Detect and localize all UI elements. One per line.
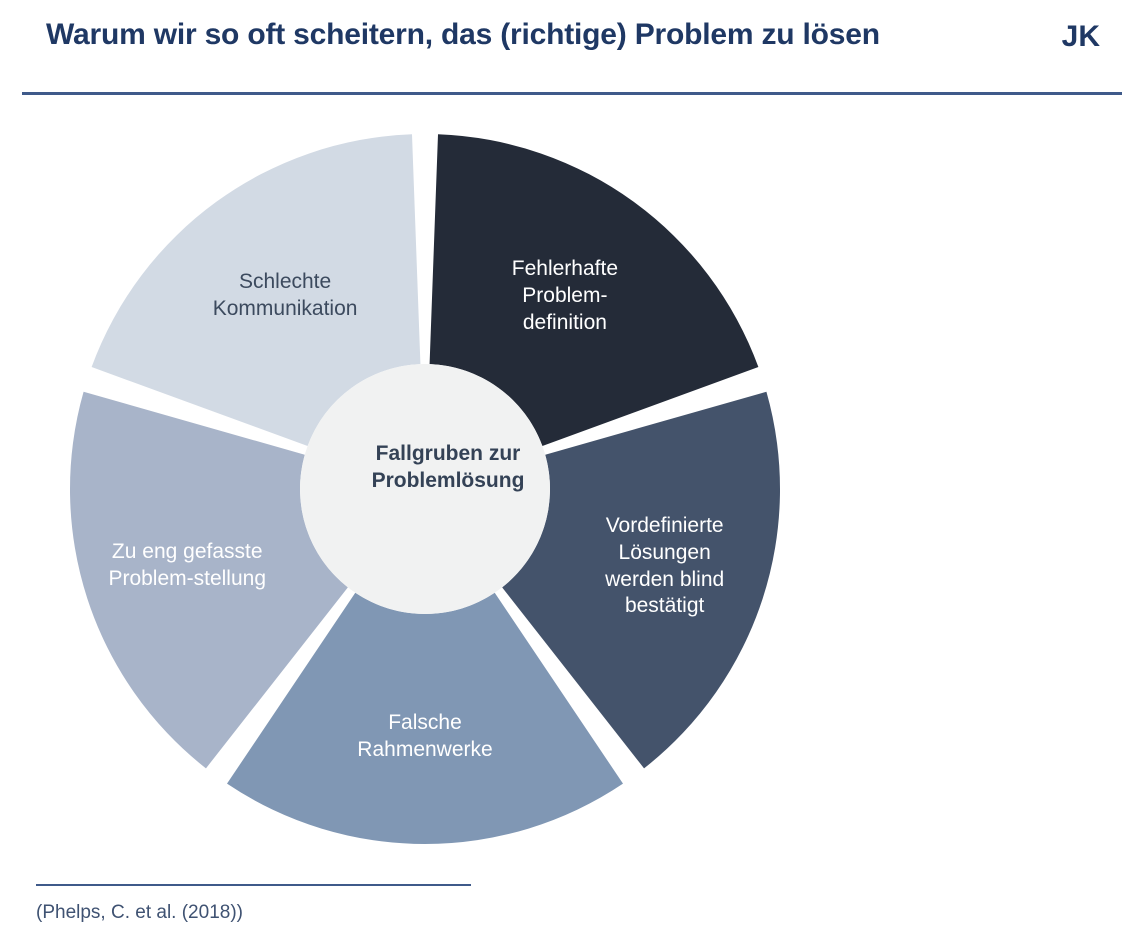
source-citation: (Phelps, C. et al. (2018))	[36, 902, 243, 924]
page-title: Warum wir so oft scheitern, das (richtig…	[46, 18, 880, 52]
header-divider	[22, 92, 1122, 95]
donut-chart: Fallgruben zur Problemlösung Fehlerhafte…	[58, 118, 798, 868]
brand-logo: JK	[1062, 20, 1100, 54]
footnote-divider	[36, 884, 471, 886]
slide-canvas: Warum wir so oft scheitern, das (richtig…	[0, 0, 1142, 949]
donut-center-label: Fallgruben zur Problemlösung	[333, 440, 563, 495]
slide-header: Warum wir so oft scheitern, das (richtig…	[0, 0, 1142, 96]
